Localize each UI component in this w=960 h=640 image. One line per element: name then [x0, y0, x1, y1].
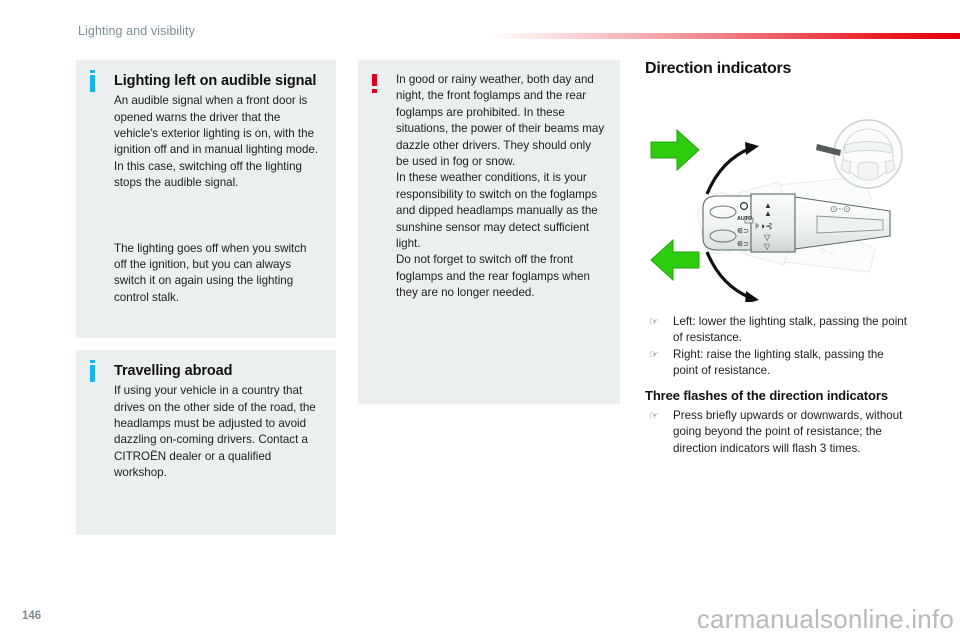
direction-indicators-section: Direction indicators [645, 60, 907, 78]
subsection-title: Three flashes of the direction indicator… [645, 388, 907, 404]
svg-text:⊧◑⊰: ⊧◑⊰ [755, 221, 773, 231]
svg-text:▽: ▽ [764, 233, 771, 242]
svg-text:AUTO: AUTO [737, 216, 752, 222]
svg-text:⊙┈⊙: ⊙┈⊙ [830, 204, 851, 214]
three-flashes-bullets: ☞ Press briefly upwards or downwards, wi… [645, 408, 907, 457]
list-item: ☞ Press briefly upwards or downwards, wi… [645, 408, 907, 457]
svg-text:⋹⊃: ⋹⊃ [737, 228, 749, 235]
page-title: Direction indicators [645, 60, 907, 78]
pointing-hand-icon: ☞ [649, 347, 659, 363]
page-header: Lighting and visibility [0, 0, 960, 48]
list-item: ☞ Left: lower the lighting stalk, passin… [645, 314, 907, 347]
list-item-text: Right: raise the lighting stalk, passing… [673, 348, 884, 377]
lighting-stalk-diagram: AUTO ≡Ɔ ≡Ɔ ▲ ⊧◑⊰ ▽ ▽ ⊙┈○ AUTO ≡Ɔ ≡Ɔ ▲ ⊧◑… [645, 112, 907, 302]
watermark: carmanualsonline.info [697, 604, 954, 635]
pointing-hand-icon: ☞ [649, 408, 659, 424]
left-arrow-icon [651, 240, 699, 280]
header-red-rule [490, 33, 960, 39]
note-title: Lighting left on audible signal [114, 72, 322, 90]
list-item: ☞ Right: raise the lighting stalk, passi… [645, 347, 907, 380]
pointing-hand-icon: ☞ [649, 314, 659, 330]
svg-text:▲: ▲ [764, 209, 772, 218]
info-note-lighting-left-on: Lighting left on audible signal An audib… [76, 60, 336, 338]
info-icon [90, 75, 95, 92]
steering-wheel-inset [816, 120, 902, 188]
svg-text:⋹⊃: ⋹⊃ [737, 241, 749, 248]
paragraph-spacer [114, 192, 322, 241]
direction-indicator-bullets: ☞ Left: lower the lighting stalk, passin… [645, 314, 907, 380]
warning-paragraph: In good or rainy weather, both day and n… [396, 72, 606, 170]
list-item-text: Left: lower the lighting stalk, passing … [673, 315, 907, 344]
note-paragraph: An audible signal when a front door is o… [114, 93, 322, 191]
right-arrow-icon [651, 130, 699, 170]
three-flashes-section: Three flashes of the direction indicator… [645, 388, 907, 457]
warning-note-foglamps: In good or rainy weather, both day and n… [358, 60, 620, 404]
note-title: Travelling abroad [114, 362, 322, 380]
warning-icon [372, 74, 377, 86]
page-number: 146 [22, 610, 41, 622]
info-icon [90, 365, 95, 382]
note-paragraph: If using your vehicle in a country that … [114, 383, 322, 481]
note-paragraph: The lighting goes off when you switch of… [114, 241, 322, 307]
list-item-text: Press briefly upwards or downwards, with… [673, 409, 902, 455]
header-chapter-title: Lighting and visibility [78, 24, 195, 38]
warning-paragraph: Do not forget to switch off the front fo… [396, 252, 606, 301]
svg-text:▽: ▽ [764, 242, 771, 251]
info-note-travelling-abroad: Travelling abroad If using your vehicle … [76, 350, 336, 535]
warning-paragraph: In these weather conditions, it is your … [396, 170, 606, 252]
